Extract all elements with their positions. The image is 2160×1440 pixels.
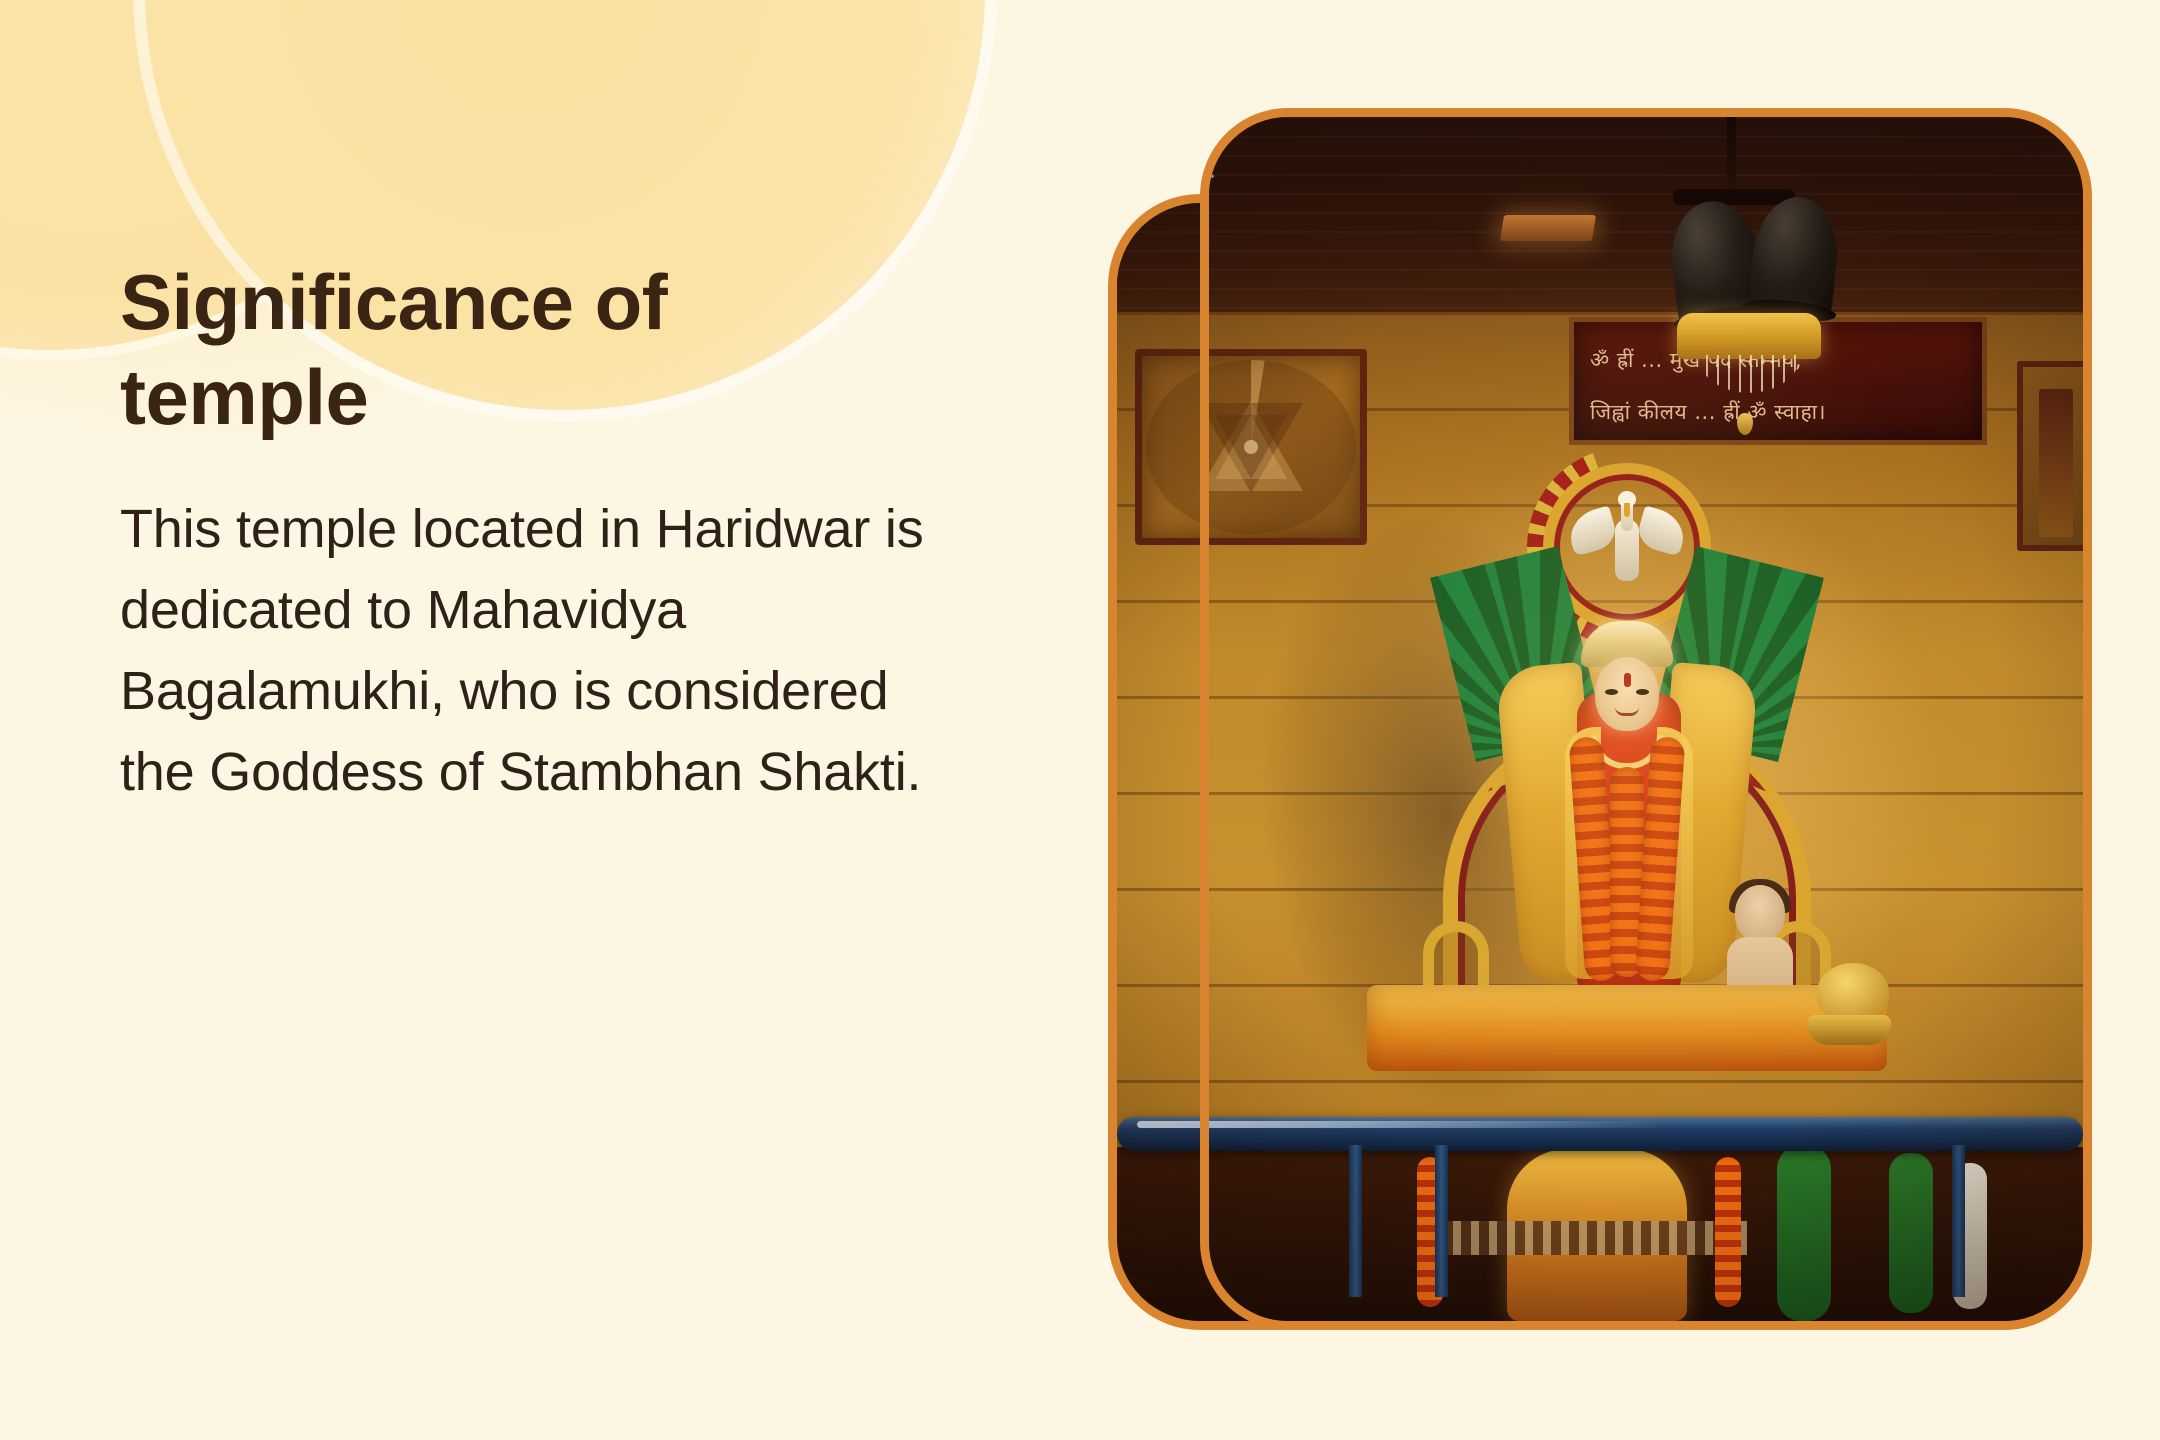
temple-photo[interactable]: ॐ ह्रीं ... मुख पदं स्तम्भय, जिह्वां कील… — [1108, 108, 2092, 1330]
text-column: Significance of temple This temple locat… — [120, 255, 960, 813]
page-title: Significance of temple — [120, 255, 820, 445]
photo-copy-main: ॐ ह्रीं ... मुख पदं स्तम्भय, जिह्वां कील… — [1200, 117, 2083, 1321]
photo-frame: ॐ ह्रीं ... मुख पदं स्तम्भय, जिह्वां कील… — [1108, 108, 2092, 1330]
slide-canvas: Significance of temple This temple locat… — [0, 0, 2160, 1440]
body-paragraph: This temple located in Haridwar is dedic… — [120, 489, 930, 813]
frame-main-lobe: ॐ ह्रीं ... मुख पदं स्तम्भय, जिह्वां कील… — [1200, 108, 2092, 1330]
